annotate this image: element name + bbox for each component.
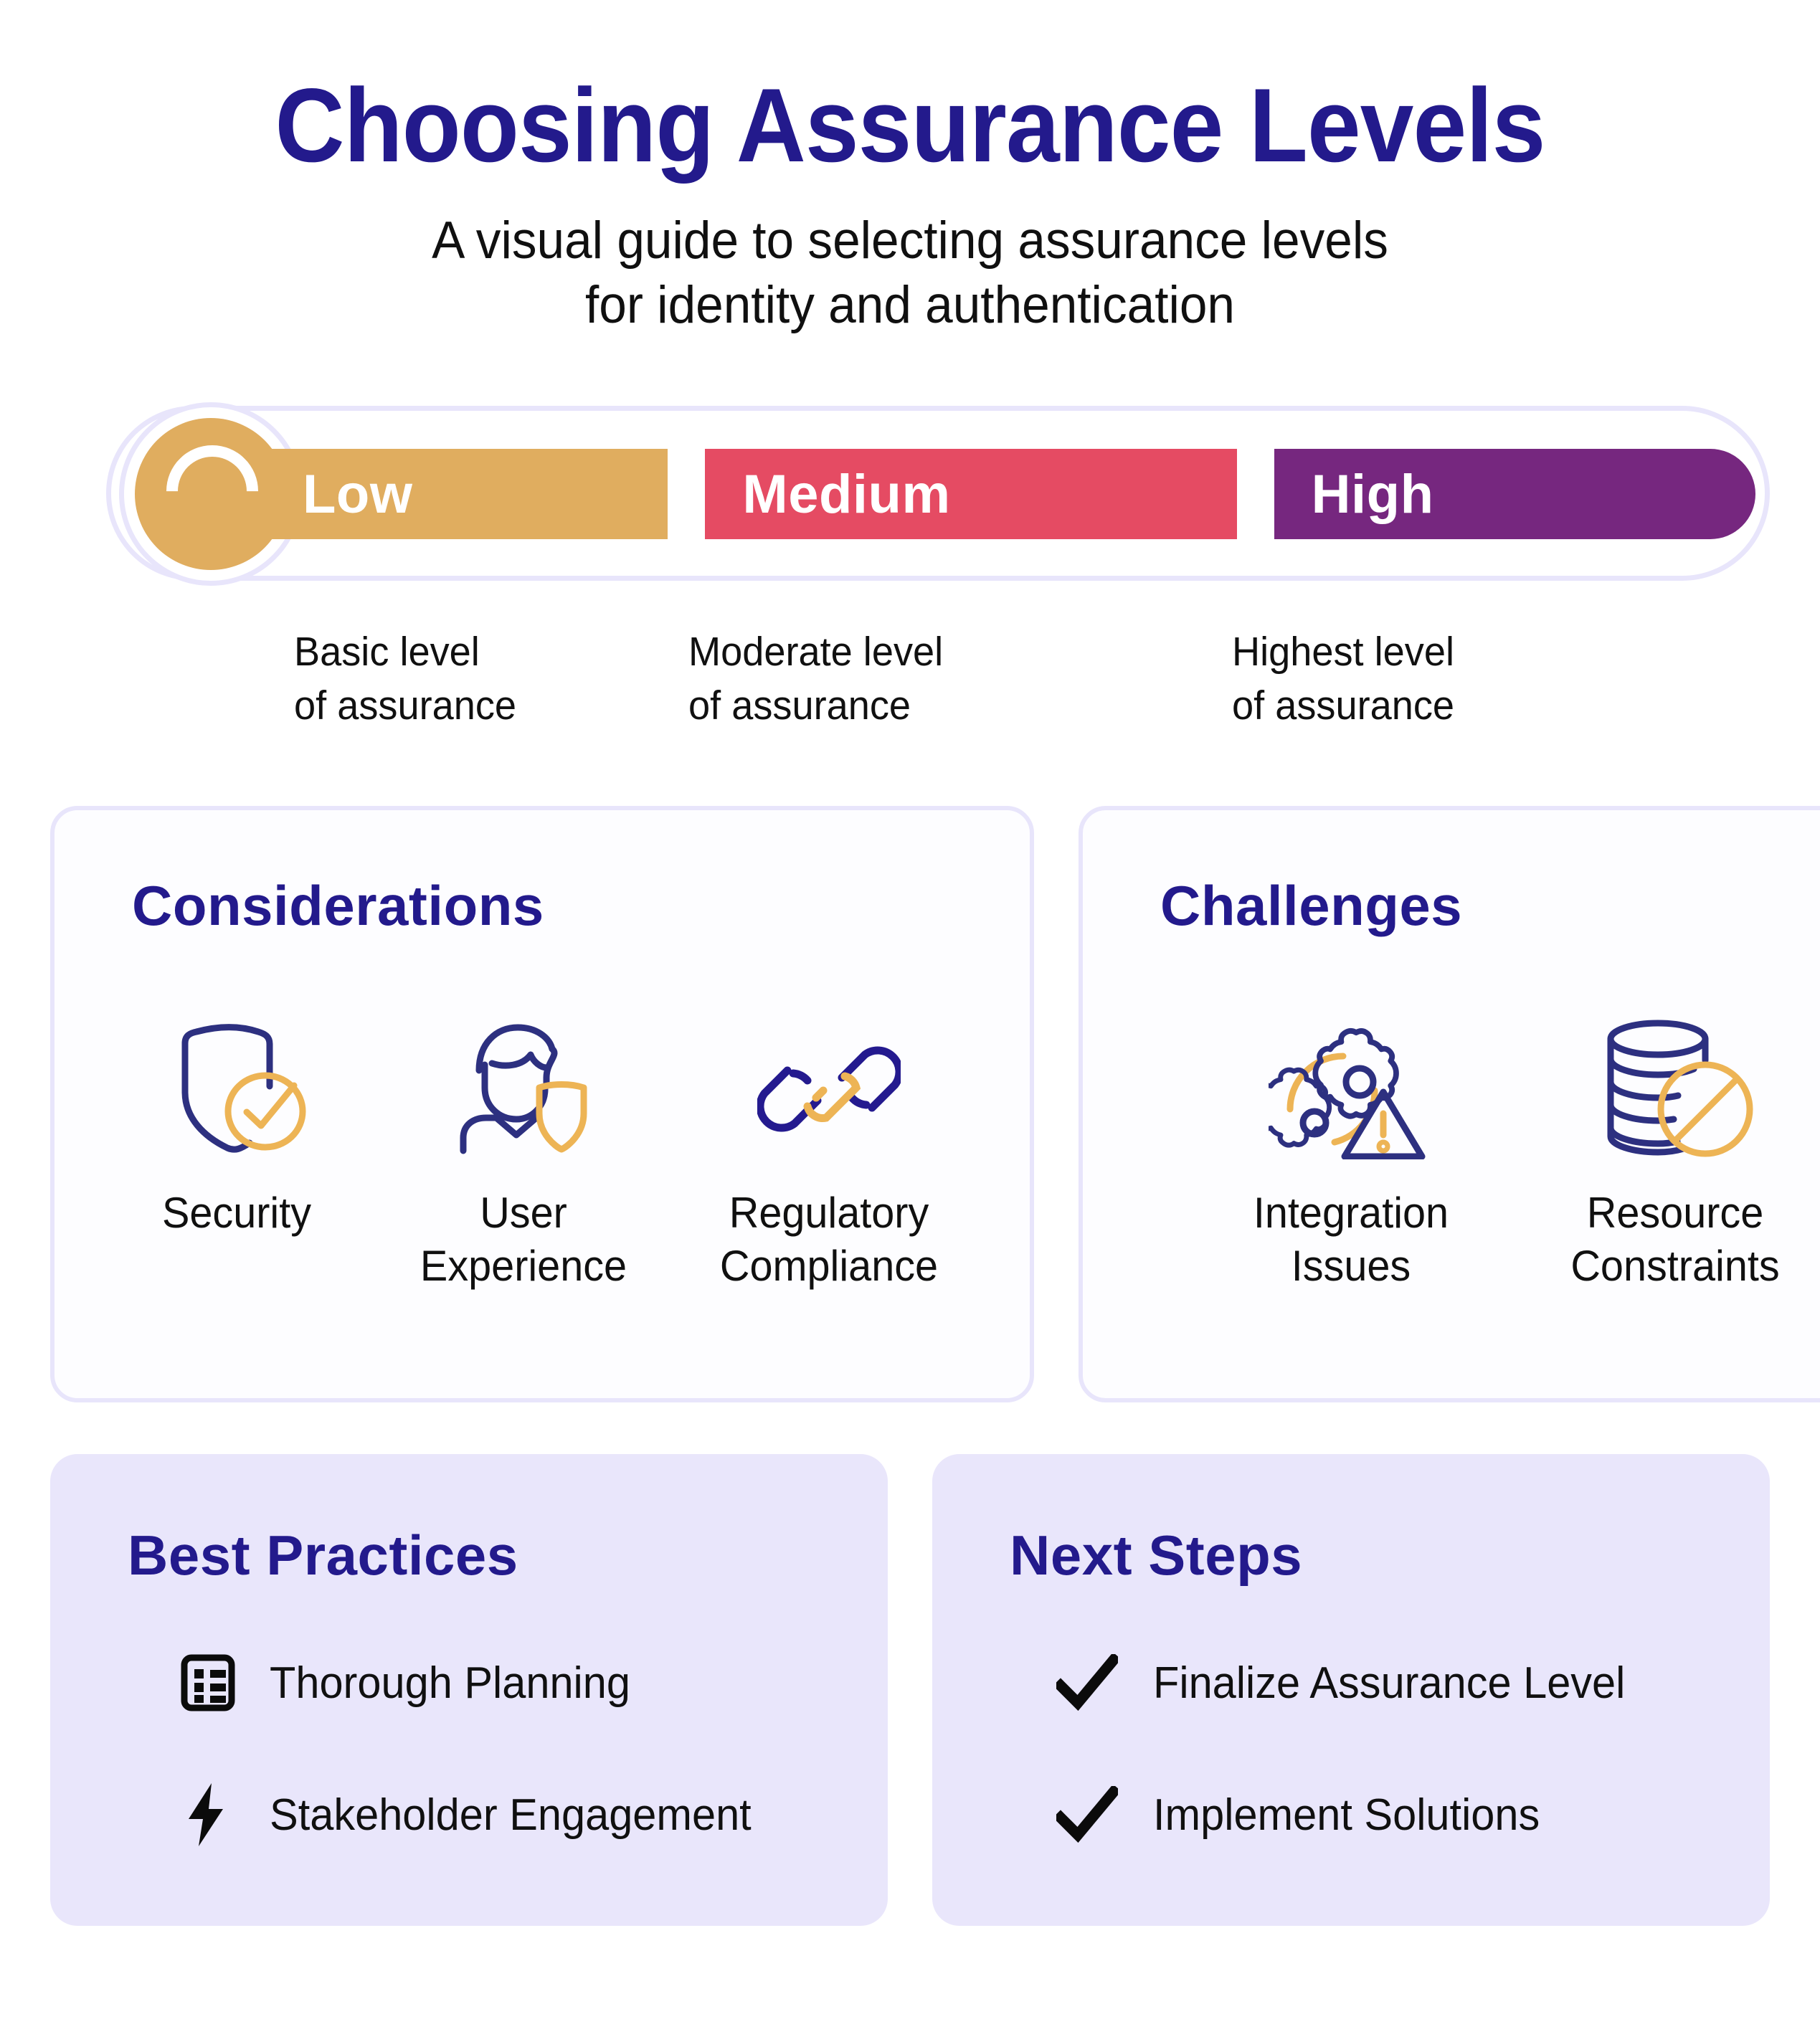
next-steps-card: Next Steps Finalize Assurance Level Impl… bbox=[932, 1454, 1770, 1926]
shield-check-icon bbox=[93, 1013, 380, 1162]
meter-caption-high: Highest level of assurance bbox=[1232, 625, 1454, 732]
next-step-label-implement-solutions: Implement Solutions bbox=[1153, 1790, 1540, 1841]
best-practice-label-thorough-planning: Thorough Planning bbox=[270, 1658, 630, 1709]
infographic-page: Choosing Assurance Levels A visual guide… bbox=[0, 0, 1820, 2042]
caption-line-2: Constraints bbox=[1520, 1240, 1820, 1292]
check-mark-icon bbox=[1053, 1648, 1122, 1717]
considerations-icon-row: Security bbox=[54, 1013, 1030, 1291]
caption-line-1: Security bbox=[99, 1187, 374, 1239]
meter-caption-low-line-1: Basic level bbox=[294, 625, 516, 679]
best-practice-item-thorough-planning[interactable]: Thorough Planning bbox=[174, 1648, 888, 1717]
caption-line-2: Experience bbox=[386, 1240, 661, 1292]
challenges-icon-row: Integration Issues bbox=[1083, 1013, 1820, 1291]
challenge-caption-resource-constraints: Resource Constraints bbox=[1520, 1187, 1820, 1291]
meter-caption-high-line-1: Highest level bbox=[1232, 625, 1454, 679]
best-practice-label-stakeholder-engagement: Stakeholder Engagement bbox=[270, 1790, 752, 1841]
caption-line-1: Integration bbox=[1195, 1187, 1507, 1239]
meter-caption-medium-line-1: Moderate level bbox=[688, 625, 943, 679]
page-subtitle: A visual guide to selecting assurance le… bbox=[45, 209, 1774, 338]
consideration-caption-security: Security bbox=[99, 1187, 374, 1239]
meter-segment-medium[interactable]: Medium bbox=[705, 449, 1236, 539]
meter-caption-medium-line-2: of assurance bbox=[688, 679, 943, 733]
meter-segment-low[interactable]: Low bbox=[265, 449, 668, 539]
lightning-bolt-icon bbox=[174, 1780, 242, 1849]
next-step-label-finalize-assurance-level: Finalize Assurance Level bbox=[1153, 1658, 1625, 1709]
best-practices-title: Best Practices bbox=[128, 1523, 888, 1588]
user-shield-icon bbox=[380, 1013, 667, 1162]
next-step-item-finalize-assurance-level[interactable]: Finalize Assurance Level bbox=[1053, 1648, 1770, 1717]
meter-segment-low-label: Low bbox=[265, 463, 412, 526]
consideration-item-user-experience[interactable]: User Experience bbox=[380, 1013, 667, 1291]
meter-segment-gap-2 bbox=[1237, 449, 1274, 539]
challenge-item-resource-constraints[interactable]: Resource Constraints bbox=[1513, 1013, 1820, 1291]
gears-warning-icon bbox=[1189, 1013, 1513, 1162]
page-title: Choosing Assurance Levels bbox=[73, 70, 1748, 181]
meter-caption-low: Basic level of assurance bbox=[294, 625, 516, 732]
bulb-highlight-icon bbox=[147, 427, 277, 556]
caption-line-2: Issues bbox=[1195, 1240, 1507, 1292]
meter-caption-low-line-2: of assurance bbox=[294, 679, 516, 733]
meter-segment-high-label: High bbox=[1274, 463, 1434, 526]
meter-caption-medium: Moderate level of assurance bbox=[688, 625, 943, 732]
check-mark-icon bbox=[1053, 1780, 1122, 1849]
caption-line-1: User bbox=[386, 1187, 661, 1239]
best-practices-card: Best Practices Thorough Planning bbox=[50, 1454, 888, 1926]
meter-bulb bbox=[135, 418, 287, 570]
consideration-caption-regulatory-compliance: Regulatory Compliance bbox=[673, 1187, 985, 1291]
top-card-grid: Considerations Security bbox=[50, 806, 1770, 1402]
considerations-card: Considerations Security bbox=[50, 806, 1034, 1402]
caption-line-2: Compliance bbox=[673, 1240, 985, 1292]
best-practice-item-stakeholder-engagement[interactable]: Stakeholder Engagement bbox=[174, 1780, 888, 1849]
meter-segment-gap-1 bbox=[668, 449, 705, 539]
meter-segment-medium-label: Medium bbox=[705, 463, 950, 526]
database-blocked-icon bbox=[1513, 1013, 1820, 1162]
challenges-card: Challenges bbox=[1079, 806, 1820, 1402]
considerations-title: Considerations bbox=[132, 873, 1030, 939]
checklist-icon bbox=[174, 1648, 242, 1717]
caption-line-1: Resource bbox=[1520, 1187, 1820, 1239]
assurance-level-meter: Low Medium High bbox=[50, 393, 1770, 594]
consideration-item-security[interactable]: Security bbox=[93, 1013, 380, 1291]
challenge-item-integration-issues[interactable]: Integration Issues bbox=[1189, 1013, 1513, 1291]
meter-segment-high[interactable]: High bbox=[1274, 449, 1755, 539]
caption-line-1: Regulatory bbox=[673, 1187, 985, 1239]
consideration-caption-user-experience: User Experience bbox=[386, 1187, 661, 1291]
header: Choosing Assurance Levels A visual guide… bbox=[0, 0, 1820, 337]
chain-link-icon bbox=[667, 1013, 991, 1162]
subtitle-line-1: A visual guide to selecting assurance le… bbox=[45, 209, 1774, 273]
meter-captions: Basic level of assurance Moderate level … bbox=[50, 625, 1770, 754]
subtitle-line-2: for identity and authentication bbox=[45, 273, 1774, 338]
bottom-card-grid: Best Practices Thorough Planning bbox=[50, 1454, 1770, 1926]
challenges-title: Challenges bbox=[1160, 873, 1820, 939]
next-step-item-implement-solutions[interactable]: Implement Solutions bbox=[1053, 1780, 1770, 1849]
consideration-item-regulatory-compliance[interactable]: Regulatory Compliance bbox=[667, 1013, 991, 1291]
meter-caption-high-line-2: of assurance bbox=[1232, 679, 1454, 733]
meter-segments: Low Medium High bbox=[265, 449, 1755, 539]
next-steps-title: Next Steps bbox=[1010, 1523, 1770, 1588]
challenge-caption-integration-issues: Integration Issues bbox=[1195, 1187, 1507, 1291]
